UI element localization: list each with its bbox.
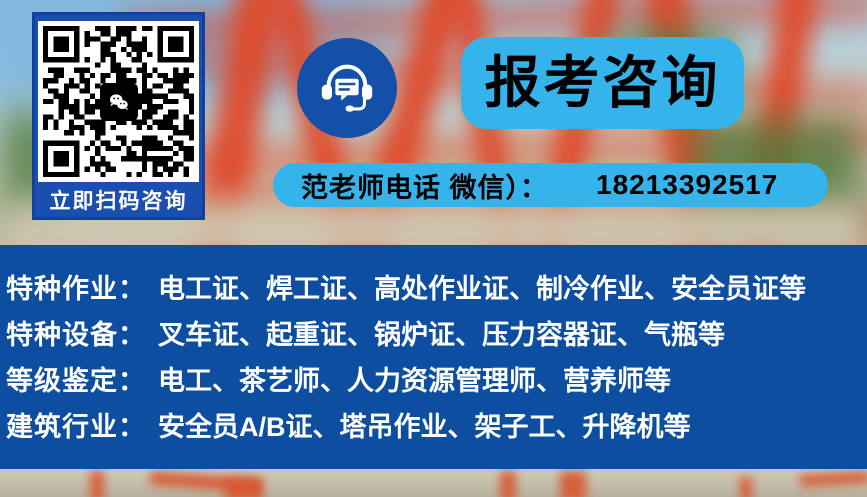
bottom-photo-strip [0, 469, 867, 497]
headset-support-icon [297, 38, 397, 138]
qr-code-caption: 立即扫码咨询 [50, 182, 188, 222]
certificate-list-panel: 特种作业： 电工证、焊工证、高处作业证、制冷作业、安全员证等 特种设备： 叉车证… [0, 245, 867, 469]
qr-code-frame [38, 21, 199, 182]
qr-code-image [43, 26, 194, 177]
list-item: 特种作业： 电工证、焊工证、高处作业证、制冷作业、安全员证等 [0, 267, 867, 313]
page-title: 报考咨询 [485, 55, 721, 111]
row-label-special-operations: 特种作业： [6, 267, 158, 306]
row-label-special-equipment: 特种设备： [6, 313, 158, 352]
row-value-special-operations: 电工证、焊工证、高处作业证、制冷作业、安全员证等 [158, 267, 806, 306]
row-label-construction-industry: 建筑行业： [6, 405, 158, 444]
row-value-grade-appraisal: 电工、茶艺师、人力资源管理师、营养师等 [158, 359, 671, 398]
list-item: 建筑行业： 安全员A/B证、塔吊作业、架子工、升降机等 [0, 405, 867, 451]
contact-label: 范老师电话 微信）： [301, 166, 548, 205]
row-value-construction-industry: 安全员A/B证、塔吊作业、架子工、升降机等 [158, 405, 691, 444]
contact-phone-number[interactable]: 18213392517 [596, 169, 778, 201]
contact-pill[interactable]: 范老师电话 微信）： 18213392517 [273, 163, 828, 207]
promo-poster: 立即扫码咨询 报考咨询 范老师电话 微信）： 18213392517 特种作业：… [0, 0, 867, 497]
title-pill: 报考咨询 [461, 37, 744, 129]
row-value-special-equipment: 叉车证、起重证、锅炉证、压力容器证、气瓶等 [158, 313, 725, 352]
list-item: 特种设备： 叉车证、起重证、锅炉证、压力容器证、气瓶等 [0, 313, 867, 359]
wechat-icon [100, 83, 138, 121]
list-item: 等级鉴定： 电工、茶艺师、人力资源管理师、营养师等 [0, 359, 867, 405]
qr-code-card[interactable]: 立即扫码咨询 [32, 12, 205, 220]
row-label-grade-appraisal: 等级鉴定： [6, 359, 158, 398]
